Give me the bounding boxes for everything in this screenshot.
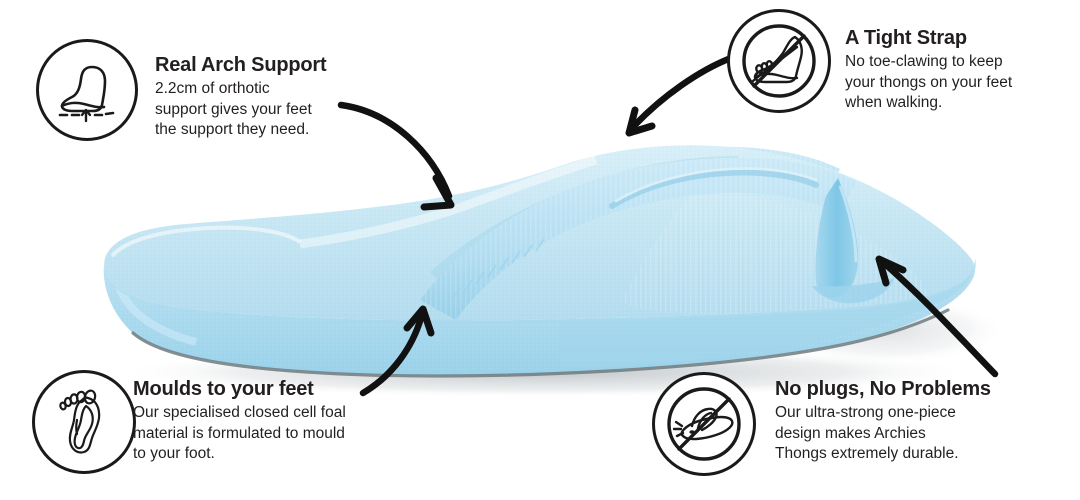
feature-body-line: when walking. xyxy=(845,93,1070,114)
feature-body-line: Our ultra-strong one-piece xyxy=(775,403,1015,424)
arrow-to-strap xyxy=(629,58,731,133)
feature-body-line: No toe-clawing to keep xyxy=(845,52,1070,73)
feature-body-line: Thongs extremely durable. xyxy=(775,444,1015,465)
footprint-icon xyxy=(32,370,136,474)
feature-body-line: support gives your feet xyxy=(155,100,375,121)
strap-brand-emboss xyxy=(618,159,808,206)
feature-heading: Moulds to your feet xyxy=(133,378,413,401)
footbed xyxy=(90,130,990,340)
feature-body-line: Our specialised closed cell foal xyxy=(133,403,413,424)
feature-body-line: 2.2cm of orthotic xyxy=(155,79,375,100)
feature-heading: No plugs, No Problems xyxy=(775,378,1015,401)
strap-ridge-texture xyxy=(452,239,544,300)
strap-brand-emboss-front xyxy=(612,169,816,206)
product-drop-shadow-toe xyxy=(765,296,1005,364)
feature-body-line: material is formulated to mould xyxy=(133,424,413,445)
product-feature-infographic: Real Arch Support 2.2cm of orthotic supp… xyxy=(0,0,1080,500)
foam-midsole xyxy=(90,250,990,380)
no-plug-broken-thong-icon xyxy=(652,372,756,476)
feature-heading: Real Arch Support xyxy=(155,54,375,77)
feature-body-line: to your foot. xyxy=(133,444,413,465)
strap-back-limb xyxy=(430,146,840,290)
feature-heading: A Tight Strap xyxy=(845,27,1070,50)
no-toe-clawing-icon xyxy=(727,9,831,113)
strap-front-limb xyxy=(420,158,856,320)
feature-body-line: design makes Archies xyxy=(775,424,1015,445)
feature-body-line: your thongs on your feet xyxy=(845,73,1070,94)
toe-post xyxy=(812,178,894,303)
feature-body-line: the support they need. xyxy=(155,120,375,141)
arrow-to-toe-post xyxy=(879,259,995,374)
foot-arch-support-icon xyxy=(36,39,138,141)
